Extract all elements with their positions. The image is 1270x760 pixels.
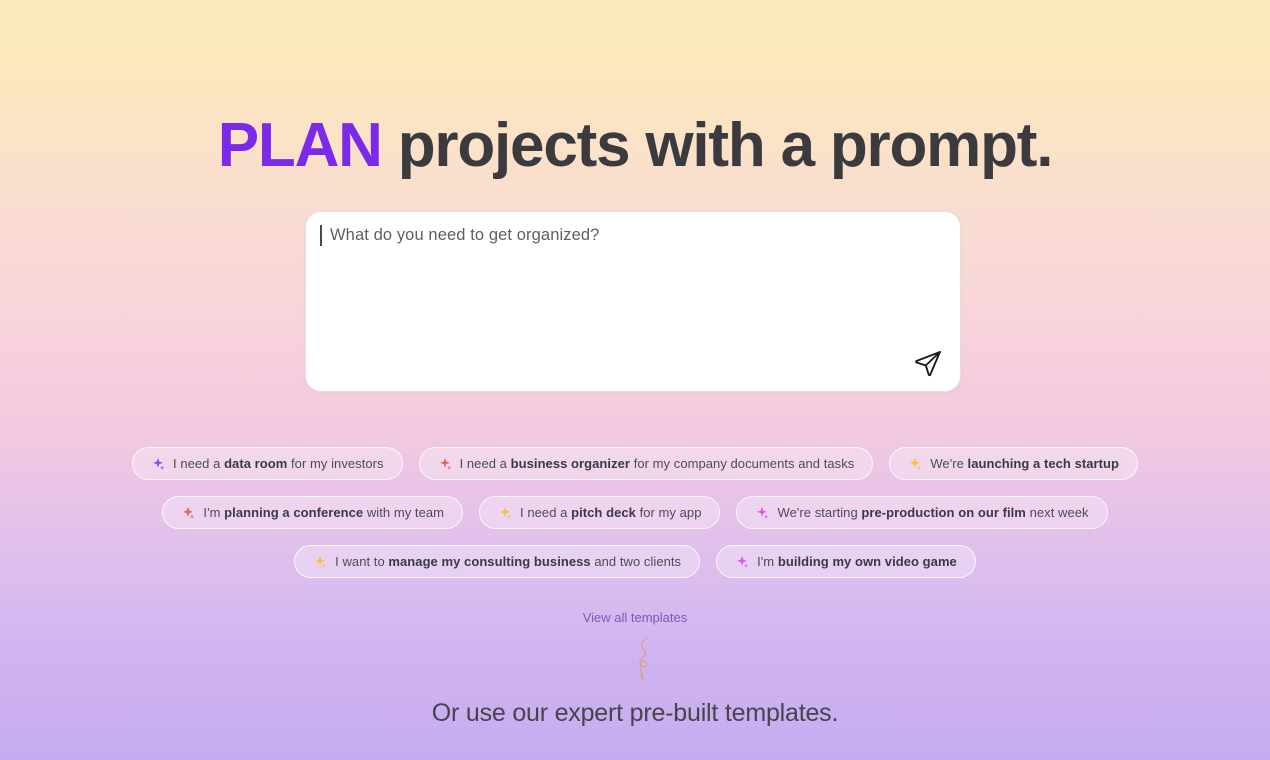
sparkle-icon bbox=[313, 555, 327, 569]
suggestion-row-3: I want to manage my consulting business … bbox=[0, 545, 1270, 578]
suggestion-chip-label: I'm planning a conference with my team bbox=[203, 505, 444, 520]
suggestion-chips: I need a data room for my investors I ne… bbox=[0, 447, 1270, 594]
send-paper-plane-icon bbox=[913, 348, 943, 378]
send-button[interactable] bbox=[908, 343, 948, 383]
prompt-placeholder-row: What do you need to get organized? bbox=[320, 225, 599, 246]
suggestion-chip-label: I need a data room for my investors bbox=[173, 456, 384, 471]
suggestion-chip[interactable]: I need a data room for my investors bbox=[132, 447, 403, 480]
view-all-templates-link[interactable]: View all templates bbox=[0, 610, 1270, 625]
suggestion-chip[interactable]: We're launching a tech startup bbox=[889, 447, 1138, 480]
suggestion-chip[interactable]: We're starting pre-production on our fil… bbox=[736, 496, 1107, 529]
curly-arrow-doodle bbox=[604, 636, 684, 694]
landing-page: PLAN projects with a prompt. What do you… bbox=[0, 0, 1270, 760]
suggestion-row-1: I need a data room for my investors I ne… bbox=[0, 447, 1270, 480]
suggestion-chip[interactable]: I'm building my own video game bbox=[716, 545, 976, 578]
suggestion-chip-label: I need a pitch deck for my app bbox=[520, 505, 701, 520]
suggestion-chip-label: We're starting pre-production on our fil… bbox=[777, 505, 1088, 520]
templates-subheading: Or use our expert pre-built templates. bbox=[0, 699, 1270, 728]
suggestion-chip[interactable]: I need a business organizer for my compa… bbox=[419, 447, 874, 480]
suggestion-chip-label: I'm building my own video game bbox=[757, 554, 957, 569]
sparkle-icon bbox=[181, 506, 195, 520]
suggestion-chip-label: We're launching a tech startup bbox=[930, 456, 1119, 471]
suggestion-chip-label: I want to manage my consulting business … bbox=[335, 554, 681, 569]
suggestion-chip[interactable]: I'm planning a conference with my team bbox=[162, 496, 463, 529]
brand-word: PLAN bbox=[218, 111, 382, 180]
sparkle-icon bbox=[151, 457, 165, 471]
text-cursor bbox=[320, 225, 322, 246]
suggestion-chip[interactable]: I want to manage my consulting business … bbox=[294, 545, 700, 578]
sparkle-icon bbox=[755, 506, 769, 520]
sparkle-icon bbox=[735, 555, 749, 569]
suggestion-chip-label: I need a business organizer for my compa… bbox=[460, 456, 855, 471]
sparkle-icon bbox=[908, 457, 922, 471]
page-title: PLAN projects with a prompt. bbox=[0, 110, 1270, 181]
prompt-input-container[interactable]: What do you need to get organized? bbox=[305, 211, 961, 392]
prompt-placeholder-text: What do you need to get organized? bbox=[330, 226, 599, 245]
suggestion-row-2: I'm planning a conference with my team I… bbox=[0, 496, 1270, 529]
sparkle-icon bbox=[438, 457, 452, 471]
sparkle-icon bbox=[498, 506, 512, 520]
suggestion-chip[interactable]: I need a pitch deck for my app bbox=[479, 496, 720, 529]
headline-rest: projects with a prompt. bbox=[382, 111, 1053, 180]
